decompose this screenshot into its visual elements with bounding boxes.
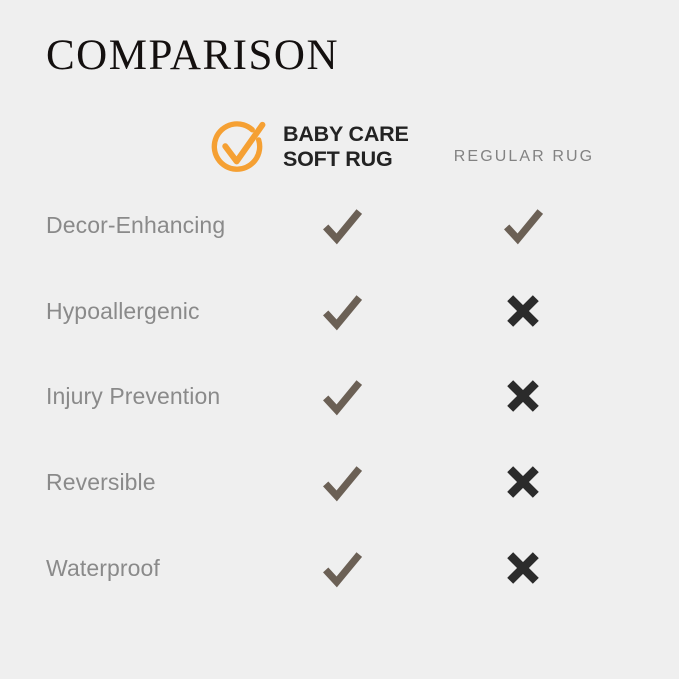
- comparison-rows: Decor-EnhancingHypoallergenicInjury Prev…: [0, 0, 679, 679]
- check-icon: [499, 201, 547, 249]
- feature-label: Hypoallergenic: [46, 281, 200, 341]
- brand-cell: [282, 366, 402, 426]
- comparison-row: Injury Prevention: [0, 366, 679, 426]
- feature-label: Decor-Enhancing: [46, 195, 225, 255]
- brand-cell: [282, 538, 402, 598]
- brand-cell: [282, 195, 402, 255]
- feature-label: Waterproof: [46, 538, 160, 598]
- feature-label: Reversible: [46, 452, 156, 512]
- comparison-row: Waterproof: [0, 538, 679, 598]
- brand-cell: [282, 281, 402, 341]
- cross-icon: [503, 548, 543, 588]
- rival-cell: [463, 195, 583, 255]
- check-icon: [318, 287, 366, 335]
- rival-cell: [463, 281, 583, 341]
- comparison-row: Decor-Enhancing: [0, 195, 679, 255]
- feature-label: Injury Prevention: [46, 366, 220, 426]
- check-icon: [318, 458, 366, 506]
- comparison-page: COMPARISON BABY CARE SOFT RUG REGULAR RU…: [0, 0, 679, 679]
- comparison-row: Reversible: [0, 452, 679, 512]
- rival-cell: [463, 538, 583, 598]
- comparison-row: Hypoallergenic: [0, 281, 679, 341]
- rival-cell: [463, 452, 583, 512]
- cross-icon: [503, 462, 543, 502]
- check-icon: [318, 544, 366, 592]
- rival-cell: [463, 366, 583, 426]
- cross-icon: [503, 376, 543, 416]
- brand-cell: [282, 452, 402, 512]
- check-icon: [318, 201, 366, 249]
- cross-icon: [503, 291, 543, 331]
- check-icon: [318, 372, 366, 420]
